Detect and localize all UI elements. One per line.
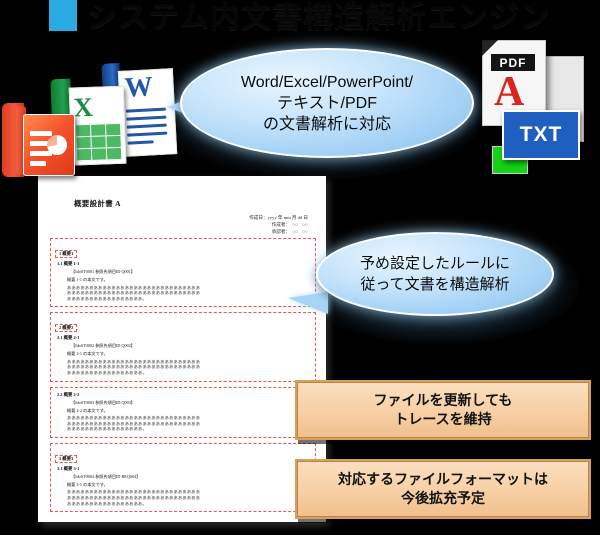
section-heading-1: 3 概要3 — [55, 455, 77, 463]
callout2-line2: 今後拡充予定 — [338, 489, 548, 508]
section-heading-2: 3.1 概要 3-1 — [57, 466, 311, 472]
section-heading-2: 2.1 概要 2-1 — [57, 335, 311, 341]
section-body-line: あああああああああああああああああ。 — [67, 426, 179, 432]
document-title: 概要設計書 A — [74, 198, 121, 209]
section-body-line: ああああああああああああああああああああああああああああああ — [67, 290, 311, 296]
document-page: 概要設計書 A 作成日：yyyy 年 mm 月 dd 日 作成者： ○○ ○○ … — [38, 176, 326, 522]
bubble-tail-2 — [288, 292, 328, 314]
section-body-line: あああああああああああああああああ。 — [67, 501, 179, 507]
section-heading-1: 2 概要2 — [55, 324, 77, 332]
section-heading-2: 2.2 概要 2-2 — [57, 392, 311, 398]
page-title: システム内文書構造解析エンジン — [0, 0, 600, 36]
rule-based-parse-bubble: 予め設定したルールに 従って文書を構造解析 — [316, 232, 554, 316]
txt-icon: TXT — [502, 110, 576, 156]
powerpoint-icon — [2, 103, 74, 177]
section-body-head: 概要 2-2 の本文です。 — [67, 408, 311, 414]
structure-block: 1 概要1 1.1 概要 1-1 【IdoST0001 参照先項目ID Q001… — [50, 238, 316, 307]
section-heading-2: 1.1 概要 1-1 — [57, 261, 311, 267]
document-sections: 1 概要1 1.1 概要 1-1 【IdoST0001 参照先項目ID Q001… — [50, 238, 316, 517]
section-id-tag: 【IdoST0004 参照先項目ID REQ004】 — [71, 474, 311, 480]
section-id-tag: 【IdoST0001 参照先項目ID Q001】 — [71, 269, 311, 275]
document-meta-approver: 承認者： ○○ ○○ — [249, 228, 308, 235]
document-meta-created-date: 作成日：yyyy 年 mm 月 dd 日 — [249, 214, 308, 221]
section-id-tag: 【IdoST0002 参照先項目ID Q002】 — [71, 343, 311, 349]
callout2-line1: 対応するファイルフォーマットは — [338, 471, 548, 487]
callout1-line2: トレースを維持 — [374, 410, 513, 429]
section-heading-1: 1 概要1 — [55, 250, 77, 258]
slide-canvas: システム内文書構造解析エンジン 概要設計書 A 作成日：yyyy 年 mm 月 … — [0, 0, 600, 535]
page-title-text: システム内文書構造解析エンジン — [87, 0, 551, 36]
document-meta: 作成日：yyyy 年 mm 月 dd 日 作成者： ○○ ○○ 承認者： ○○ … — [249, 214, 308, 235]
section-body-line: あああああああああああああああああ。 — [67, 370, 179, 376]
bubble2-line2: 従って文書を構造解析 — [360, 276, 509, 293]
structure-block: 2.2 概要 2-2 【IdoST0003 参照先項目ID Q003】 概要 2… — [50, 387, 316, 438]
section-body-line: ああああああああああああああああああああああああああああああ — [67, 495, 311, 501]
bubble2-line1: 予め設定したルールに — [360, 255, 510, 272]
section-body-head: 概要 2-1 の本文です。 — [67, 351, 311, 357]
bubble1-line2: テキスト/PDF — [277, 95, 377, 112]
section-body-head: 概要 3-1 の本文です。 — [67, 482, 311, 488]
format-support-bubble: Word/Excel/PowerPoint/ テキスト/PDF の文書解析に対応 — [180, 48, 474, 158]
section-body-head: 概要 1-1 の本文です。 — [67, 277, 311, 283]
title-accent-block — [49, 0, 77, 31]
txt-label: TXT — [502, 110, 580, 160]
section-id-tag: 【IdoST0003 参照先項目ID Q003】 — [71, 400, 311, 406]
callout1-line1: ファイルを更新しても — [374, 392, 513, 408]
bubble1-line1: Word/Excel/PowerPoint/ — [241, 74, 413, 91]
structure-block: 3 概要3 3.1 概要 3-1 【IdoST0004 参照先項目ID REQ0… — [50, 443, 316, 512]
section-body-line: あああああああああああああああああ。 — [67, 296, 179, 302]
trace-maintained-callout: ファイルを更新しても トレースを維持 — [295, 380, 591, 440]
bubble1-line3: の文書解析に対応 — [263, 116, 391, 133]
structure-block: 2 概要2 2.1 概要 2-1 【IdoST0002 参照先項目ID Q002… — [50, 312, 316, 381]
document-meta-author: 作成者： ○○ ○○ — [249, 221, 308, 228]
future-formats-callout: 対応するファイルフォーマットは 今後拡充予定 — [295, 459, 591, 519]
